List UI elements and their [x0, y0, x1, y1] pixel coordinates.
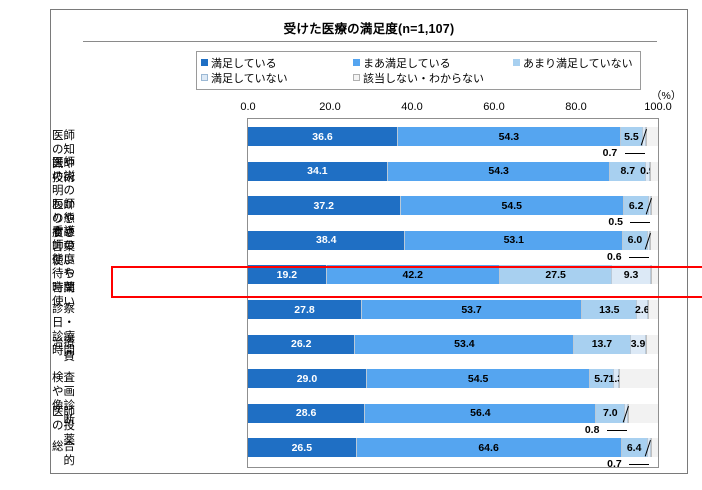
bar-value-callout: 0.7: [607, 458, 622, 470]
stacked-bar: 38.453.16.0: [248, 231, 658, 250]
bar-segment: [646, 335, 657, 354]
bar-segment: 53.1: [405, 231, 623, 250]
stacked-bar: 36.654.35.5: [248, 127, 658, 146]
chart-frame: 受けた医療の満足度(n=1,107) 満足している まあ満足している あまり満足…: [50, 9, 688, 474]
bar-value-label: 26.5: [292, 442, 312, 454]
category-label: 総合的: [51, 440, 75, 468]
bar-segment: [650, 162, 658, 181]
bar-value-label: 5.7: [594, 373, 609, 385]
bar-segment: 29.0: [248, 369, 367, 388]
title-divider: [83, 41, 657, 42]
bar-value-label: 37.2: [314, 200, 334, 212]
stacked-bar: 37.254.56.2: [248, 196, 658, 215]
legend-item-1: まあ満足している: [353, 55, 513, 71]
legend-row-2: 満足していない 該当しない・わからない: [201, 70, 636, 85]
bar-segment: 54.3: [388, 162, 611, 181]
bar-segment: [651, 196, 658, 215]
bar-segment: [651, 438, 658, 457]
legend-label: 満足している: [211, 55, 277, 71]
bar-segment: 38.4: [248, 231, 405, 250]
legend-label: 満足していない: [211, 70, 288, 86]
callout-leader-line: [630, 222, 650, 223]
stacked-bar: 27.853.713.52.6: [248, 300, 658, 319]
bar-value-label: 29.0: [297, 373, 317, 385]
callout-leader-line: [607, 430, 627, 431]
bar-value-label: 5.5: [624, 131, 639, 143]
bar-value-label: 53.1: [504, 234, 524, 246]
stacked-bar: 29.054.55.71.3: [248, 369, 658, 388]
legend-swatch-icon: [513, 59, 520, 66]
x-axis-tick-label: 0.0: [240, 101, 255, 113]
callout-leader-line: [625, 153, 645, 154]
chart-title: 受けた医療の満足度(n=1,107): [51, 18, 687, 37]
bar-segment: 13.5: [582, 300, 637, 319]
bar-value-label: 27.8: [294, 304, 314, 316]
legend-item-2: あまり満足していない: [513, 55, 633, 71]
stacked-bar: 26.253.413.73.9: [248, 335, 658, 354]
bar-segment: 6.0: [623, 231, 648, 250]
stacked-bar: 28.656.47.0: [248, 404, 658, 423]
bar-value-label: 3.9: [631, 338, 646, 350]
bar-segment: [619, 369, 658, 388]
bar-segment: 5.5: [621, 127, 644, 146]
bar-segment: 3.9: [631, 335, 647, 354]
legend-label: あまり満足していない: [523, 55, 633, 71]
bar-value-label: 26.2: [291, 338, 311, 350]
bar-value-label: 53.4: [454, 338, 474, 350]
category-label: 待ち時間: [51, 267, 75, 295]
bar-segment: [628, 404, 658, 423]
bar-value-label: 64.6: [478, 442, 498, 454]
bar-value-callout: 0.5: [608, 216, 623, 228]
legend-item-0: 満足している: [201, 55, 353, 71]
bar-segment: 54.5: [401, 196, 624, 215]
bar-segment: 2.6: [637, 300, 648, 319]
bar-segment: [646, 127, 658, 146]
bar-value-label: 34.1: [307, 165, 327, 177]
bar-value-label: 54.5: [502, 200, 522, 212]
bar-segment: 54.5: [367, 369, 590, 388]
bar-value-callout: 0.8: [585, 424, 600, 436]
bar-value-label: 53.7: [461, 304, 481, 316]
category-label: 治療費: [51, 336, 75, 364]
bar-value-label: 54.3: [488, 165, 508, 177]
bar-value-callout: 0.6: [607, 251, 622, 263]
bar-segment: 13.7: [574, 335, 630, 354]
bar-segment: 28.6: [248, 404, 365, 423]
bar-segment: 26.2: [248, 335, 355, 354]
legend-swatch-icon: [353, 59, 360, 66]
bar-segment: 64.6: [357, 438, 622, 457]
legend-item-3: 満足していない: [201, 70, 353, 86]
chart-legend: 満足している まあ満足している あまり満足していない 満足していない 該当しない…: [196, 51, 641, 90]
legend-swatch-icon: [353, 74, 360, 81]
bar-value-label: 8.7: [620, 165, 635, 177]
bar-value-label: 56.4: [470, 407, 490, 419]
legend-row-1: 満足している まあ満足している あまり満足していない: [201, 55, 636, 70]
bar-segment: 54.3: [398, 127, 621, 146]
x-axis-tick-label: 80.0: [565, 101, 586, 113]
bar-segment: 26.5: [248, 438, 357, 457]
stacked-bar: 34.154.38.70.9: [248, 162, 658, 181]
bar-segment: 56.4: [365, 404, 596, 423]
bar-segment: 34.1: [248, 162, 388, 181]
bar-segment: 27.8: [248, 300, 362, 319]
bar-value-callout: 0.7: [603, 147, 618, 159]
bar-value-label: 13.5: [599, 304, 619, 316]
bar-value-label: 28.6: [296, 407, 316, 419]
legend-label: 該当しない・わからない: [363, 70, 484, 86]
stacked-bar: 26.564.66.4: [248, 438, 658, 457]
bar-value-label: 7.0: [603, 407, 618, 419]
legend-item-4: 該当しない・わからない: [353, 70, 513, 86]
bar-segment: [648, 300, 658, 319]
bar-value-label: 36.6: [312, 131, 332, 143]
callout-leader-line: [629, 257, 649, 258]
callout-leader-line: [629, 464, 649, 465]
legend-swatch-icon: [201, 59, 208, 66]
bar-value-label: 13.7: [592, 338, 612, 350]
bar-segment: 6.4: [622, 438, 648, 457]
bar-segment: [650, 231, 658, 250]
bar-value-label: 54.3: [499, 131, 519, 143]
highlight-box: [111, 266, 702, 298]
bar-segment: 53.4: [355, 335, 574, 354]
x-axis-tick-label: 100.0: [644, 101, 672, 113]
x-axis-tick-label: 40.0: [401, 101, 422, 113]
bar-segment: 7.0: [596, 404, 625, 423]
legend-swatch-icon: [201, 74, 208, 81]
bar-value-label: 6.0: [628, 234, 643, 246]
bar-segment: 36.6: [248, 127, 398, 146]
x-axis-tick-label: 20.0: [319, 101, 340, 113]
bar-value-label: 6.4: [627, 442, 642, 454]
bar-value-label: 6.2: [629, 200, 644, 212]
x-axis-tick-label: 60.0: [483, 101, 504, 113]
bar-value-label: 38.4: [316, 234, 336, 246]
bar-segment: 37.2: [248, 196, 401, 215]
legend-label: まあ満足している: [363, 55, 451, 71]
bar-value-label: 54.5: [468, 373, 488, 385]
bar-segment: 53.7: [362, 300, 582, 319]
